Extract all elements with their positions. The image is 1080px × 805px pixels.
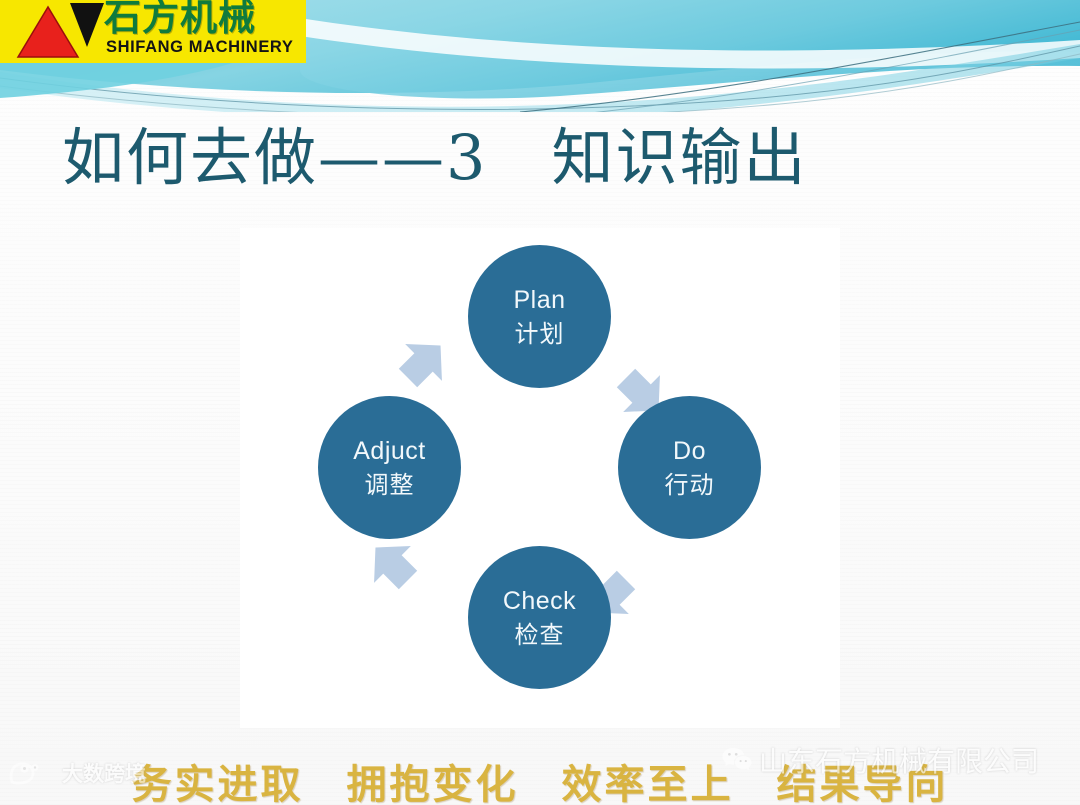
footer-slogan: 务实进取 拥抱变化 效率至上 结果导向 [0, 752, 1080, 805]
pdca-node-plan-en: Plan [513, 283, 565, 317]
pdca-node-check-en: Check [503, 584, 576, 618]
logo-chinese-name: 石方机械 [104, 0, 256, 38]
pdca-node-adjust[interactable]: Adjuct 调整 [318, 396, 461, 539]
company-logo: 石方机械 SHIFANG MACHINERY [0, 0, 306, 63]
pdca-node-check[interactable]: Check 检查 [468, 546, 611, 689]
pdca-node-check-cn: 检查 [515, 618, 565, 652]
pdca-node-adjust-cn: 调整 [365, 468, 415, 502]
pdca-cycle-diagram: Plan 计划 Do 行动 Check 检查 Adjuct 调整 [240, 228, 840, 728]
slide-title: 如何去做——3 知识输出 [62, 116, 807, 200]
pdca-node-adjust-en: Adjuct [353, 434, 425, 468]
arrow-check-to-adjust [357, 529, 426, 598]
pdca-node-do-en: Do [673, 434, 706, 468]
pdca-node-do-cn: 行动 [665, 468, 715, 502]
pdca-node-plan[interactable]: Plan 计划 [468, 245, 611, 388]
pdca-node-do[interactable]: Do 行动 [618, 396, 761, 539]
content-panel: Plan 计划 Do 行动 Check 检查 Adjuct 调整 [240, 228, 840, 728]
pdca-node-plan-cn: 计划 [515, 317, 565, 351]
logo-english-name: SHIFANG MACHINERY [106, 38, 293, 57]
arrow-adjust-to-plan [390, 327, 459, 396]
logo-triangle-mark-icon [8, 1, 104, 61]
presentation-slide: 石方机械 SHIFANG MACHINERY 如何去做——3 知识输出 [0, 0, 1080, 805]
